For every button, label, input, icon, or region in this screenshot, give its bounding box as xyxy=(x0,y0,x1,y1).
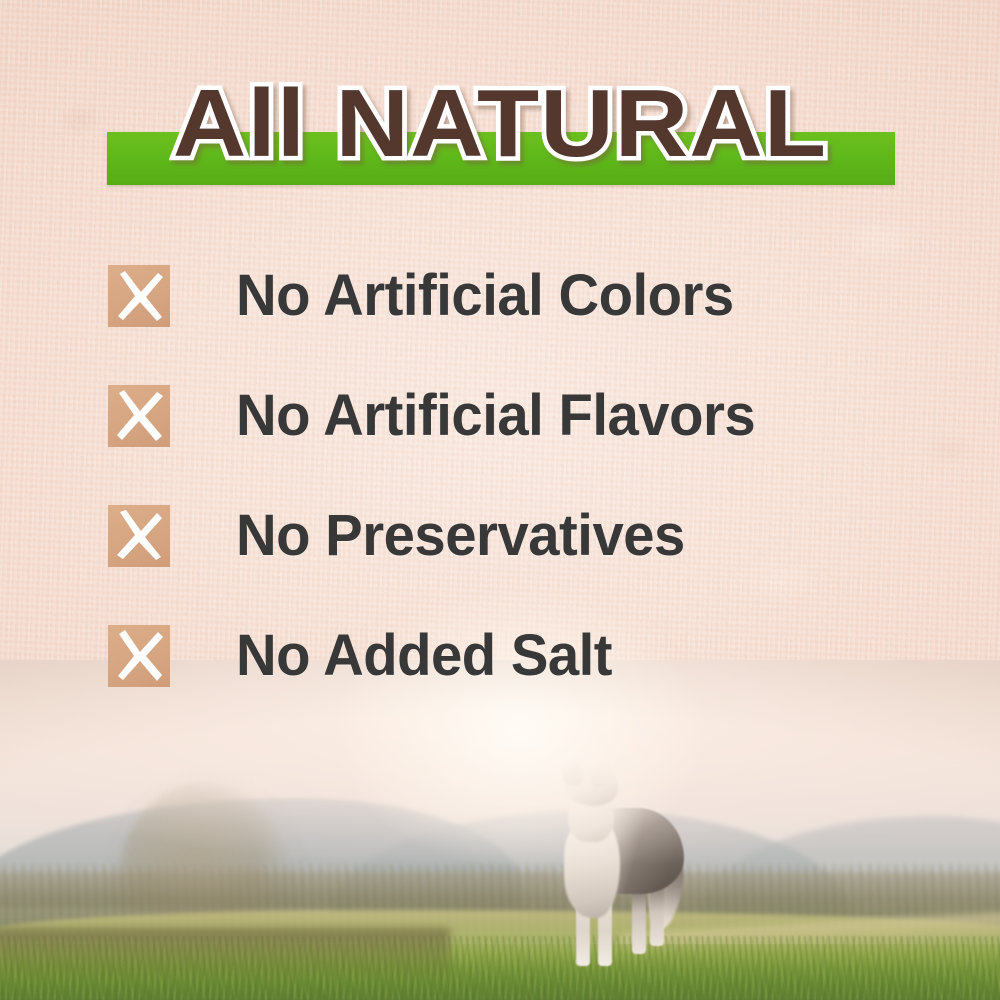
dog-leg-back-left xyxy=(632,886,646,954)
feature-row-no-artificial-colors: No Artificial Colors xyxy=(108,265,908,385)
headline-banner: All NATURAL xyxy=(0,72,1000,192)
headline-text: All NATURAL xyxy=(0,72,1000,176)
feature-label: No Artificial Colors xyxy=(236,253,734,339)
feature-row-no-added-salt: No Added Salt xyxy=(108,625,908,745)
x-mark-icon xyxy=(108,505,170,567)
x-mark-icon xyxy=(108,625,170,687)
feature-row-no-artificial-flavors: No Artificial Flavors xyxy=(108,385,908,505)
feature-label: No Added Salt xyxy=(236,613,612,699)
grass-shadow-band xyxy=(0,928,450,976)
all-natural-feature-panel: All NATURAL No Artificial Colors No Arti… xyxy=(0,0,1000,1000)
feature-label: No Artificial Flavors xyxy=(236,373,755,459)
dog xyxy=(528,760,700,972)
x-mark-icon xyxy=(108,265,170,327)
feature-label: No Preservatives xyxy=(236,493,685,579)
feature-row-no-preservatives: No Preservatives xyxy=(108,505,908,625)
feature-list: No Artificial Colors No Artificial Flavo… xyxy=(108,265,908,745)
dog-leg-back-right xyxy=(650,884,664,946)
x-mark-icon xyxy=(108,385,170,447)
